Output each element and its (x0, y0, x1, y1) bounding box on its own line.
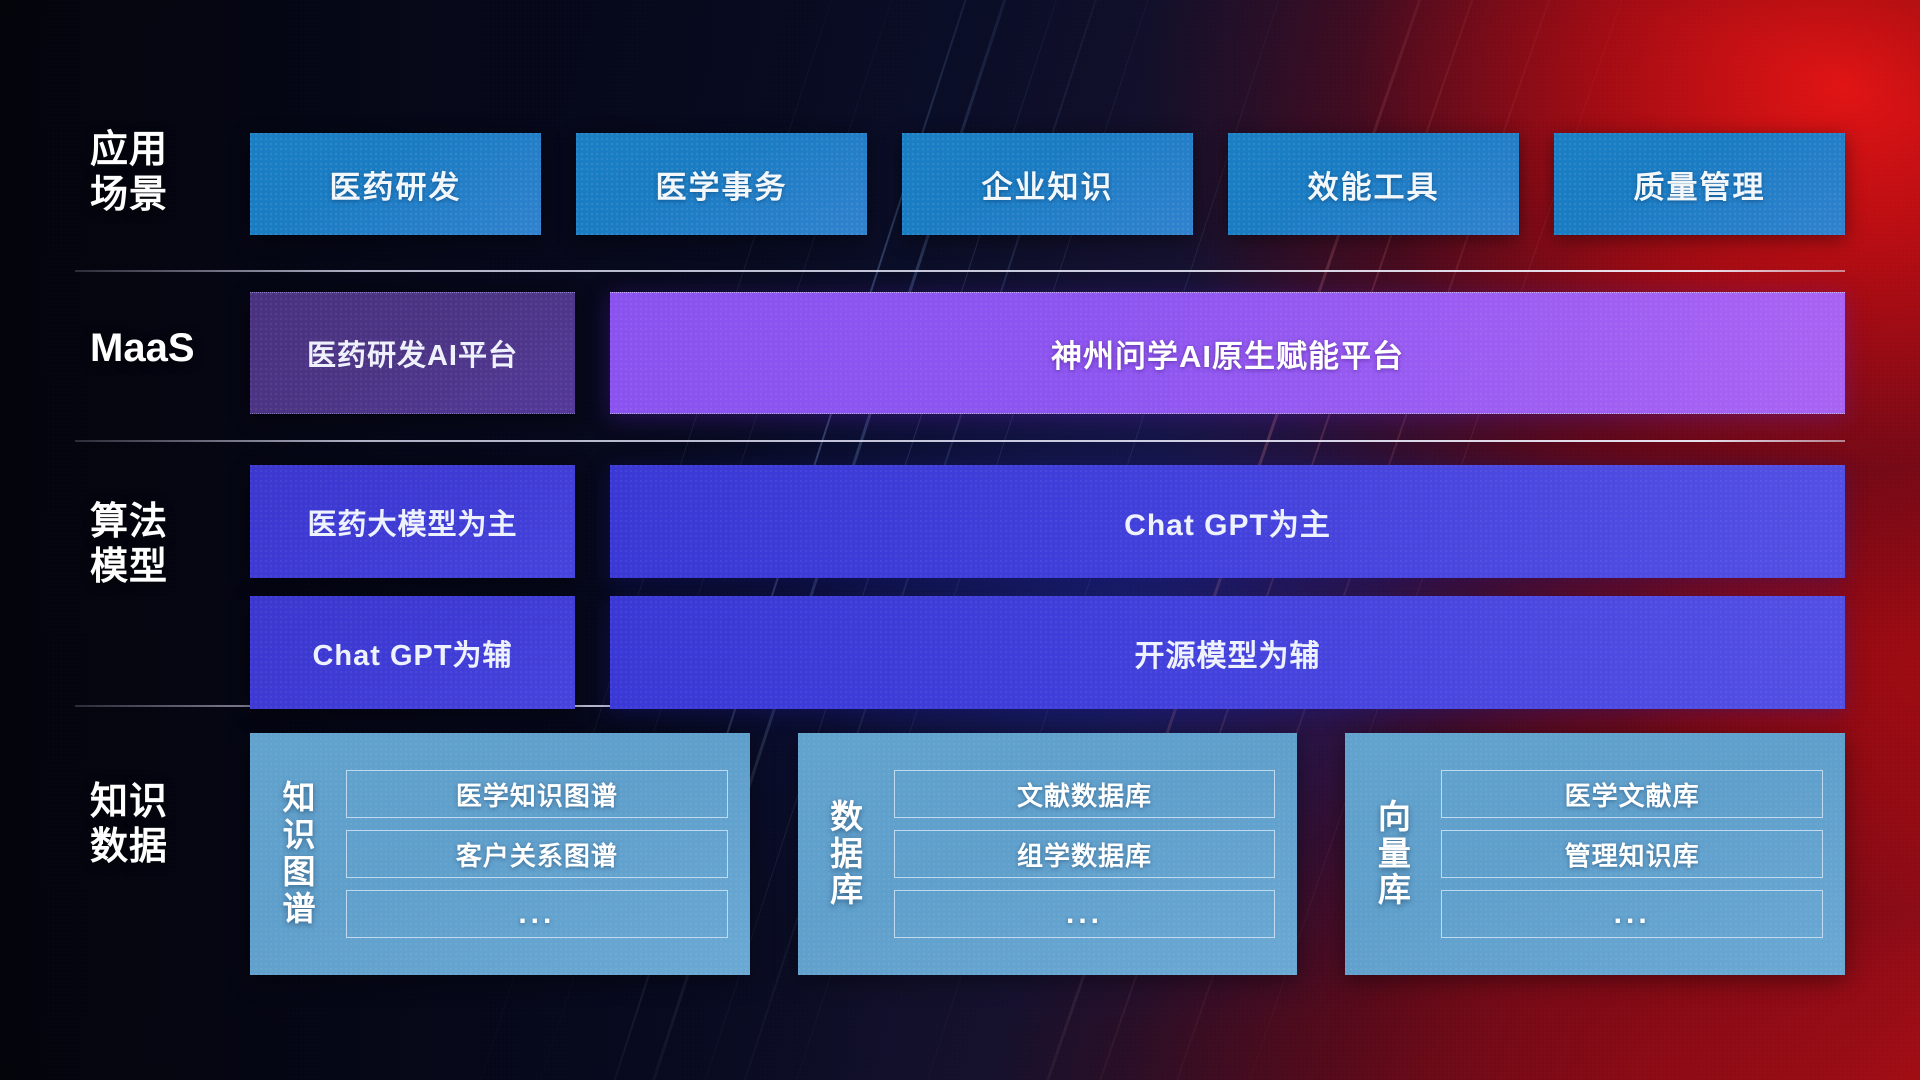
database-title-char2: 据 (816, 836, 878, 873)
divider-application-maas (75, 270, 1845, 272)
knowledge-item-medical-literature-store-label: 医学文献库 (1565, 776, 1700, 813)
row-label-algorithm-line2: 模型 (90, 545, 240, 590)
knowledge-item-more-database-label: ... (1066, 897, 1103, 931)
knowledge-group-vector-store: 向 量 库 医学文献库 管理知识库 ... (1345, 733, 1845, 975)
knowledge-group-knowledge-graph-items: 医学知识图谱 客户关系图谱 ... (346, 770, 728, 938)
row-label-knowledge-line1: 知识 (90, 780, 240, 825)
knowledge-group-database-items: 文献数据库 组学数据库 ... (894, 770, 1276, 938)
knowledge-graph-title-char1: 知 (268, 780, 330, 817)
maas-box-pharma-ai-platform-label: 医药研发AI平台 (307, 332, 518, 374)
knowledge-data-row: 知 识 图 谱 医学知识图谱 客户关系图谱 ... 数 据 (250, 733, 1845, 975)
application-box-efficiency-tools[interactable]: 效能工具 (1228, 133, 1519, 235)
algorithm-line-primary: 医药大模型为主 Chat GPT为主 (250, 465, 1845, 578)
database-title-char3: 库 (816, 872, 878, 909)
algorithm-box-opensource-secondary-label: 开源模型为辅 (1135, 631, 1321, 675)
knowledge-item-more-database[interactable]: ... (894, 890, 1276, 938)
knowledge-item-customer-relation-graph[interactable]: 客户关系图谱 (346, 830, 728, 878)
maas-box-shenzhou-wenxue-platform-label: 神州问学AI原生赋能平台 (1051, 331, 1404, 376)
knowledge-item-literature-database-label: 文献数据库 (1017, 776, 1152, 813)
application-box-rnd[interactable]: 医药研发 (250, 133, 541, 235)
divider-maas-algorithm (75, 440, 1845, 442)
knowledge-group-database: 数 据 库 文献数据库 组学数据库 ... (798, 733, 1298, 975)
application-box-enterprise-knowledge-label: 企业知识 (982, 162, 1114, 207)
knowledge-item-medical-literature-store[interactable]: 医学文献库 (1441, 770, 1823, 818)
knowledge-item-customer-relation-graph-label: 客户关系图谱 (456, 836, 618, 873)
row-label-algorithm-line1: 算法 (90, 500, 240, 545)
algorithm-box-chatgpt-secondary-label: Chat GPT为辅 (312, 632, 512, 674)
application-box-quality-management[interactable]: 质量管理 (1554, 133, 1845, 235)
knowledge-group-database-title: 数 据 库 (816, 799, 878, 910)
knowledge-group-knowledge-graph: 知 识 图 谱 医学知识图谱 客户关系图谱 ... (250, 733, 750, 975)
application-box-medical-affairs[interactable]: 医学事务 (576, 133, 867, 235)
architecture-diagram: 应用 场景 医药研发 医学事务 企业知识 效能工具 质量管理 MaaS 医药研发… (0, 0, 1920, 1080)
algorithm-line-secondary: Chat GPT为辅 开源模型为辅 (250, 596, 1845, 709)
row-label-maas: MaaS (90, 325, 240, 372)
knowledge-group-knowledge-graph-title: 知 识 图 谱 (268, 780, 330, 928)
knowledge-item-omics-database-label: 组学数据库 (1017, 836, 1152, 873)
maas-box-shenzhou-wenxue-platform[interactable]: 神州问学AI原生赋能平台 (610, 292, 1845, 414)
vector-store-title-char1: 向 (1363, 799, 1425, 836)
knowledge-item-medical-knowledge-graph[interactable]: 医学知识图谱 (346, 770, 728, 818)
application-box-medical-affairs-label: 医学事务 (656, 162, 788, 207)
row-label-knowledge-line2: 数据 (90, 825, 240, 870)
algorithm-box-chatgpt-secondary[interactable]: Chat GPT为辅 (250, 596, 575, 709)
maas-row: 医药研发AI平台 神州问学AI原生赋能平台 (250, 292, 1845, 414)
row-label-application-line2: 场景 (90, 173, 240, 218)
row-label-application-line1: 应用 (90, 128, 240, 173)
vector-store-title-char2: 量 (1363, 836, 1425, 873)
application-box-efficiency-tools-label: 效能工具 (1308, 162, 1440, 207)
algorithm-box-pharma-llm-primary[interactable]: 医药大模型为主 (250, 465, 575, 578)
application-box-quality-management-label: 质量管理 (1634, 162, 1766, 207)
application-box-rnd-label: 医药研发 (330, 162, 462, 207)
knowledge-item-medical-knowledge-graph-label: 医学知识图谱 (456, 776, 618, 813)
algorithm-box-chatgpt-primary-label: Chat GPT为主 (1124, 500, 1331, 544)
knowledge-group-vector-store-title: 向 量 库 (1363, 799, 1425, 910)
knowledge-graph-title-char2: 识 (268, 817, 330, 854)
maas-box-pharma-ai-platform[interactable]: 医药研发AI平台 (250, 292, 575, 414)
algorithm-model-row: 医药大模型为主 Chat GPT为主 Chat GPT为辅 开源模型为辅 (250, 465, 1845, 727)
knowledge-item-management-knowledge-store-label: 管理知识库 (1565, 836, 1700, 873)
knowledge-group-vector-store-items: 医学文献库 管理知识库 ... (1441, 770, 1823, 938)
row-label-maas-line1: MaaS (90, 325, 240, 372)
row-label-knowledge: 知识 数据 (90, 780, 240, 870)
application-box-enterprise-knowledge[interactable]: 企业知识 (902, 133, 1193, 235)
knowledge-graph-title-char4: 谱 (268, 891, 330, 928)
knowledge-item-management-knowledge-store[interactable]: 管理知识库 (1441, 830, 1823, 878)
knowledge-item-literature-database[interactable]: 文献数据库 (894, 770, 1276, 818)
algorithm-box-pharma-llm-primary-label: 医药大模型为主 (307, 501, 517, 543)
knowledge-item-more-graph[interactable]: ... (346, 890, 728, 938)
application-scenario-row: 医药研发 医学事务 企业知识 效能工具 质量管理 (250, 133, 1845, 235)
knowledge-graph-title-char3: 图 (268, 854, 330, 891)
algorithm-box-chatgpt-primary[interactable]: Chat GPT为主 (610, 465, 1845, 578)
row-label-application: 应用 场景 (90, 128, 240, 218)
vector-store-title-char3: 库 (1363, 872, 1425, 909)
algorithm-box-opensource-secondary[interactable]: 开源模型为辅 (610, 596, 1845, 709)
database-title-char1: 数 (816, 799, 878, 836)
knowledge-item-more-vector-label: ... (1614, 897, 1651, 931)
row-label-algorithm: 算法 模型 (90, 500, 240, 590)
knowledge-item-omics-database[interactable]: 组学数据库 (894, 830, 1276, 878)
knowledge-item-more-vector[interactable]: ... (1441, 890, 1823, 938)
knowledge-item-more-graph-label: ... (518, 897, 555, 931)
